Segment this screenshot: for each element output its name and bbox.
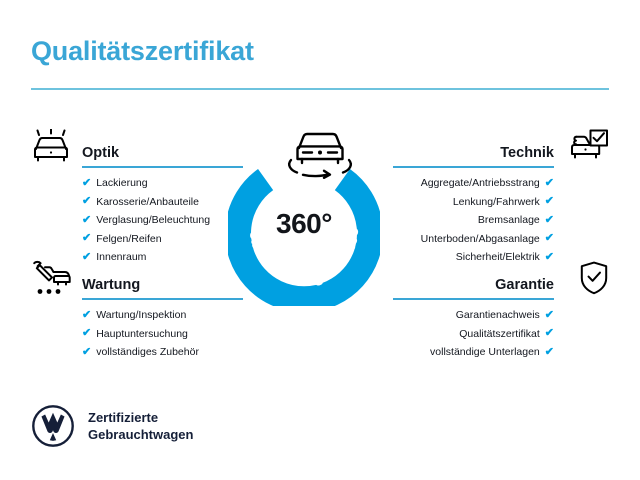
section-garantie-title: Garantie: [495, 277, 554, 293]
check-icon: ✔: [82, 328, 91, 339]
section-wartung: Wartung ✔Wartung/Inspektion ✔Hauptunters…: [31, 262, 243, 362]
car-front-shine-icon: [31, 128, 75, 164]
section-optik: Optik ✔Lackierung ✔Karosserie/Anbauteile…: [31, 130, 243, 267]
list-item: Aggregate/Antriebsstrang✔: [397, 174, 609, 193]
list-item: ✔Karosserie/Anbauteile: [31, 193, 243, 212]
footer-text: Zertifizierte Gebrauchtwagen: [88, 409, 193, 443]
check-icon: ✔: [545, 310, 554, 321]
section-wartung-list: ✔Wartung/Inspektion ✔Hauptuntersuchung ✔…: [31, 306, 243, 362]
list-item: Lenkung/Fahrwerk✔: [397, 193, 609, 212]
list-item: Qualitätszertifikat✔: [397, 325, 609, 344]
section-wartung-divider: [82, 298, 243, 300]
shield-check-icon: [565, 260, 609, 296]
section-wartung-header: Wartung: [31, 262, 243, 300]
section-optik-list: ✔Lackierung ✔Karosserie/Anbauteile ✔Verg…: [31, 174, 243, 267]
list-item-label: Wartung/Inspektion: [96, 306, 186, 325]
list-item-label: Qualitätszertifikat: [459, 325, 540, 344]
list-item-label: Aggregate/Antriebsstrang: [421, 174, 540, 193]
footer-logo-block: Zertifizierte Gebrauchtwagen: [31, 404, 193, 448]
section-technik-list: Aggregate/Antriebsstrang✔ Lenkung/Fahrwe…: [397, 174, 609, 267]
list-item: ✔Lackierung: [31, 174, 243, 193]
footer-line-2: Gebrauchtwagen: [88, 426, 193, 443]
list-item-label: Hauptuntersuchung: [96, 325, 188, 344]
list-item: ✔Felgen/Reifen: [31, 230, 243, 249]
list-item-label: vollständiges Zubehör: [96, 343, 199, 362]
list-item-label: Garantienachweis: [456, 306, 540, 325]
check-icon: ✔: [82, 233, 91, 244]
section-technik-title: Technik: [500, 145, 554, 161]
section-optik-title: Optik: [82, 145, 119, 161]
footer-line-1: Zertifizierte: [88, 409, 193, 426]
list-item-label: Lackierung: [96, 174, 147, 193]
check-icon: ✔: [545, 178, 554, 189]
check-icon: ✔: [82, 215, 91, 226]
section-garantie-divider: [393, 298, 554, 300]
title-divider: [31, 88, 609, 90]
list-item-label: Verglasung/Beleuchtung: [96, 211, 210, 230]
badge-degrees-label: 360°: [228, 208, 380, 240]
list-item-label: Felgen/Reifen: [96, 230, 161, 249]
section-optik-divider: [82, 166, 243, 168]
check-icon: ✔: [82, 347, 91, 358]
check-icon: ✔: [82, 196, 91, 207]
certificate-page: Qualitätszertifikat Optik ✔Lackierung ✔K…: [0, 0, 640, 480]
list-item: ✔Verglasung/Beleuchtung: [31, 211, 243, 230]
wrench-car-icon: [31, 260, 75, 296]
list-item: Unterboden/Abgasanlage✔: [397, 230, 609, 249]
section-garantie-list: Garantienachweis✔ Qualitätszertifikat✔ v…: [397, 306, 609, 362]
list-item: Garantienachweis✔: [397, 306, 609, 325]
check-icon: ✔: [545, 215, 554, 226]
page-title: Qualitätszertifikat: [31, 36, 254, 67]
check-icon: ✔: [82, 310, 91, 321]
check-icon: ✔: [82, 178, 91, 189]
check-icon: ✔: [545, 328, 554, 339]
section-wartung-title: Wartung: [82, 277, 140, 293]
section-optik-header: Optik: [31, 130, 243, 168]
list-item-label: Bremsanlage: [478, 211, 540, 230]
vw-logo: [31, 404, 75, 448]
section-technik-header: Technik: [397, 130, 609, 168]
section-garantie-header: Garantie: [397, 262, 609, 300]
check-icon: ✔: [545, 347, 554, 358]
list-item: vollständige Unterlagen✔: [397, 343, 609, 362]
list-item: ✔vollständiges Zubehör: [31, 343, 243, 362]
list-item: ✔Hauptuntersuchung: [31, 325, 243, 344]
section-technik-divider: [393, 166, 554, 168]
list-item-label: vollständige Unterlagen: [430, 343, 540, 362]
list-item-label: Karosserie/Anbauteile: [96, 193, 199, 212]
car-rotate-360-icon: [281, 126, 359, 180]
car-checkbox-icon: [565, 128, 609, 164]
list-item: ✔Wartung/Inspektion: [31, 306, 243, 325]
check-icon: ✔: [545, 233, 554, 244]
check-icon: ✔: [545, 196, 554, 207]
section-garantie: Garantie Garantienachweis✔ Qualitätszert…: [397, 262, 609, 362]
list-item-label: Unterboden/Abgasanlage: [421, 230, 540, 249]
list-item: Bremsanlage✔: [397, 211, 609, 230]
section-technik: Technik Aggregate/Antriebsstrang✔ Lenkun…: [397, 130, 609, 267]
list-item-label: Lenkung/Fahrwerk: [453, 193, 540, 212]
